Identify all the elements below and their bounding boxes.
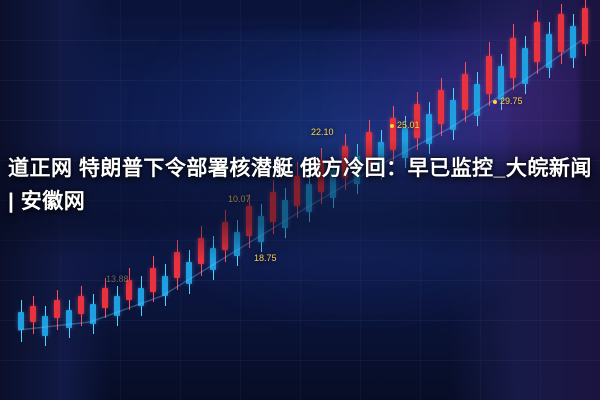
candlestick-body	[546, 34, 552, 68]
candlestick	[534, 10, 540, 74]
candlestick-body	[558, 14, 564, 52]
candlestick-body	[114, 296, 120, 316]
candlestick-body	[138, 288, 144, 306]
candlestick	[42, 306, 48, 346]
candlestick	[78, 286, 84, 326]
candlestick-body	[510, 38, 516, 78]
candlestick	[30, 296, 36, 334]
candlestick	[582, 0, 588, 56]
candlestick-body	[66, 310, 72, 328]
candlestick	[18, 300, 24, 342]
thumbnail-canvas: 22.1025.0129.7510.0718.7513.88 道正网 特朗普下令…	[0, 0, 600, 400]
price-label: 22.10	[311, 127, 334, 137]
candlestick-body	[450, 100, 456, 130]
candlestick-body	[582, 8, 588, 44]
candlestick	[54, 290, 60, 330]
candlestick	[486, 42, 492, 106]
candlestick-body	[162, 276, 168, 296]
candlestick-body	[42, 316, 48, 336]
candlestick-body	[462, 74, 468, 110]
price-label: 13.88	[106, 274, 129, 284]
price-label: 25.01	[390, 120, 420, 130]
headline-text: 道正网 特朗普下令部署核潜艇 俄方冷回：早已监控_大皖新闻 | 安徽网	[0, 152, 600, 218]
candlestick-body	[474, 84, 480, 116]
candlestick	[474, 72, 480, 126]
candlestick	[438, 78, 444, 136]
candlestick	[66, 300, 72, 338]
price-label-text: 29.75	[500, 96, 523, 106]
candlestick	[558, 4, 564, 64]
candlestick	[450, 88, 456, 140]
candlestick-body	[54, 300, 60, 318]
price-marker-dot-icon	[493, 100, 497, 104]
candlestick	[510, 24, 516, 90]
candlestick	[546, 22, 552, 78]
candlestick	[522, 36, 528, 94]
candlestick	[570, 14, 576, 68]
candlestick-body	[570, 26, 576, 58]
candlestick	[90, 294, 96, 334]
candlestick	[462, 62, 468, 122]
price-label-text: 22.10	[311, 127, 334, 137]
candlestick-body	[78, 296, 84, 314]
candlestick-body	[438, 90, 444, 124]
candlestick-body	[498, 66, 504, 100]
candlestick	[114, 286, 120, 326]
price-label-text: 25.01	[397, 120, 420, 130]
candlestick	[162, 264, 168, 306]
candlestick-body	[150, 268, 156, 292]
candlestick-body	[186, 262, 192, 284]
candlestick-body	[522, 48, 528, 84]
candlestick	[138, 276, 144, 316]
candlestick-body	[90, 304, 96, 324]
price-label: 29.75	[493, 96, 523, 106]
candlestick-body	[30, 306, 36, 322]
candlestick-body	[534, 22, 540, 62]
candlestick	[150, 256, 156, 302]
price-label-text: 13.88	[106, 274, 129, 284]
candlestick	[102, 278, 108, 318]
candlestick-body	[486, 56, 492, 94]
candlestick-body	[102, 288, 108, 308]
price-marker-dot-icon	[390, 124, 394, 128]
candlestick-body	[18, 312, 24, 330]
